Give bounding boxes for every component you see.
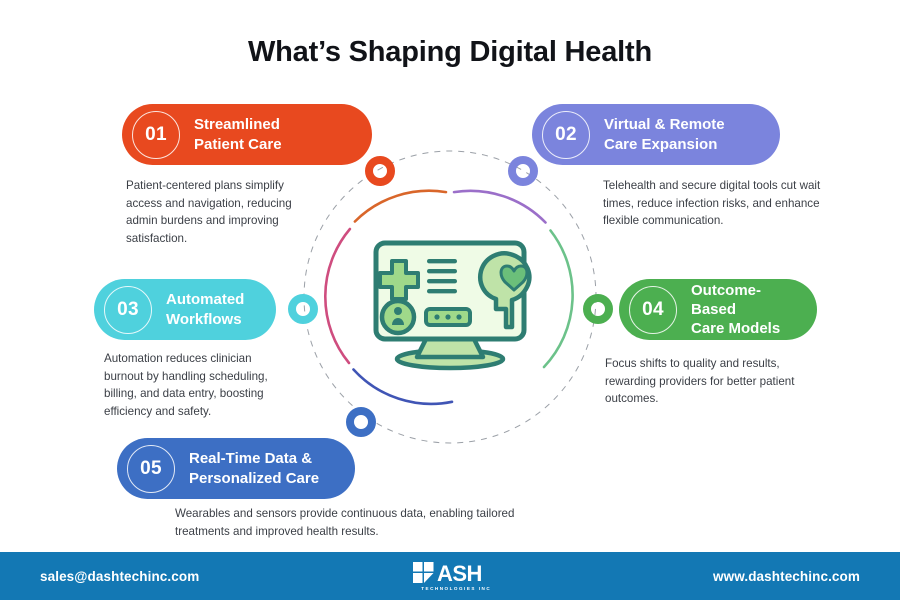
card-01-number: 01 [132, 111, 180, 159]
progress-dot-1 [434, 314, 439, 319]
center-graphic [302, 149, 598, 445]
dash-logo: ASH TECHNOLOGIES INC [413, 562, 499, 591]
dash-logo-mark: ASH [413, 562, 499, 584]
arc-pink [325, 229, 350, 363]
digital-health-monitor-illustration [376, 243, 529, 368]
card-04-title: Outcome-Based Care Models [691, 281, 795, 339]
infographic-canvas: What’s Shaping Digital Health [0, 0, 900, 600]
card-01-body: Patient-centered plans simplify access a… [126, 177, 312, 247]
card-05-pill[interactable]: 05 Real-Time Data & Personalized Care [117, 438, 355, 499]
arc-orange [355, 191, 446, 222]
arc-blue [354, 370, 453, 404]
card-01-pill[interactable]: 01 Streamlined Patient Care [122, 104, 372, 165]
card-05-number: 05 [127, 445, 175, 493]
dash-logo-subtitle: TECHNOLOGIES INC [421, 586, 491, 591]
progress-dot-2 [445, 314, 450, 319]
card-04-body: Focus shifts to quality and results, rew… [605, 355, 817, 408]
card-04-pill[interactable]: 04 Outcome-Based Care Models [619, 279, 817, 340]
card-02-body: Telehealth and secure digital tools cut … [603, 177, 843, 230]
progress-dot-3 [456, 314, 461, 319]
svg-text:ASH: ASH [437, 562, 482, 584]
card-03-number: 03 [104, 286, 152, 334]
person-badge-head [394, 307, 402, 315]
text-line-1 [427, 259, 457, 263]
card-04-number: 04 [629, 286, 677, 334]
card-03-title: Automated Workflows [166, 290, 244, 328]
arc-green [544, 231, 573, 368]
card-02-pill[interactable]: 02 Virtual & Remote Care Expansion [532, 104, 780, 165]
footer-bar: sales@dashtechinc.com ASH TECHNOLOGIES I… [0, 552, 900, 600]
card-02-title: Virtual & Remote Care Expansion [604, 115, 725, 153]
footer-website[interactable]: www.dashtechinc.com [713, 569, 860, 584]
text-line-3 [427, 279, 457, 283]
card-03-body: Automation reduces clinician burnout by … [104, 350, 294, 420]
card-05-body: Wearables and sensors provide continuous… [175, 505, 547, 540]
card-05-title: Real-Time Data & Personalized Care [189, 449, 319, 487]
card-01-title: Streamlined Patient Care [194, 115, 282, 153]
arc-purple [454, 191, 546, 223]
page-title: What’s Shaping Digital Health [0, 36, 900, 69]
text-line-2 [427, 269, 457, 273]
footer-email[interactable]: sales@dashtechinc.com [40, 569, 199, 584]
text-line-4 [427, 289, 457, 293]
card-03-pill[interactable]: 03 Automated Workflows [94, 279, 276, 340]
card-02-number: 02 [542, 111, 590, 159]
person-badge-icon [382, 301, 414, 333]
